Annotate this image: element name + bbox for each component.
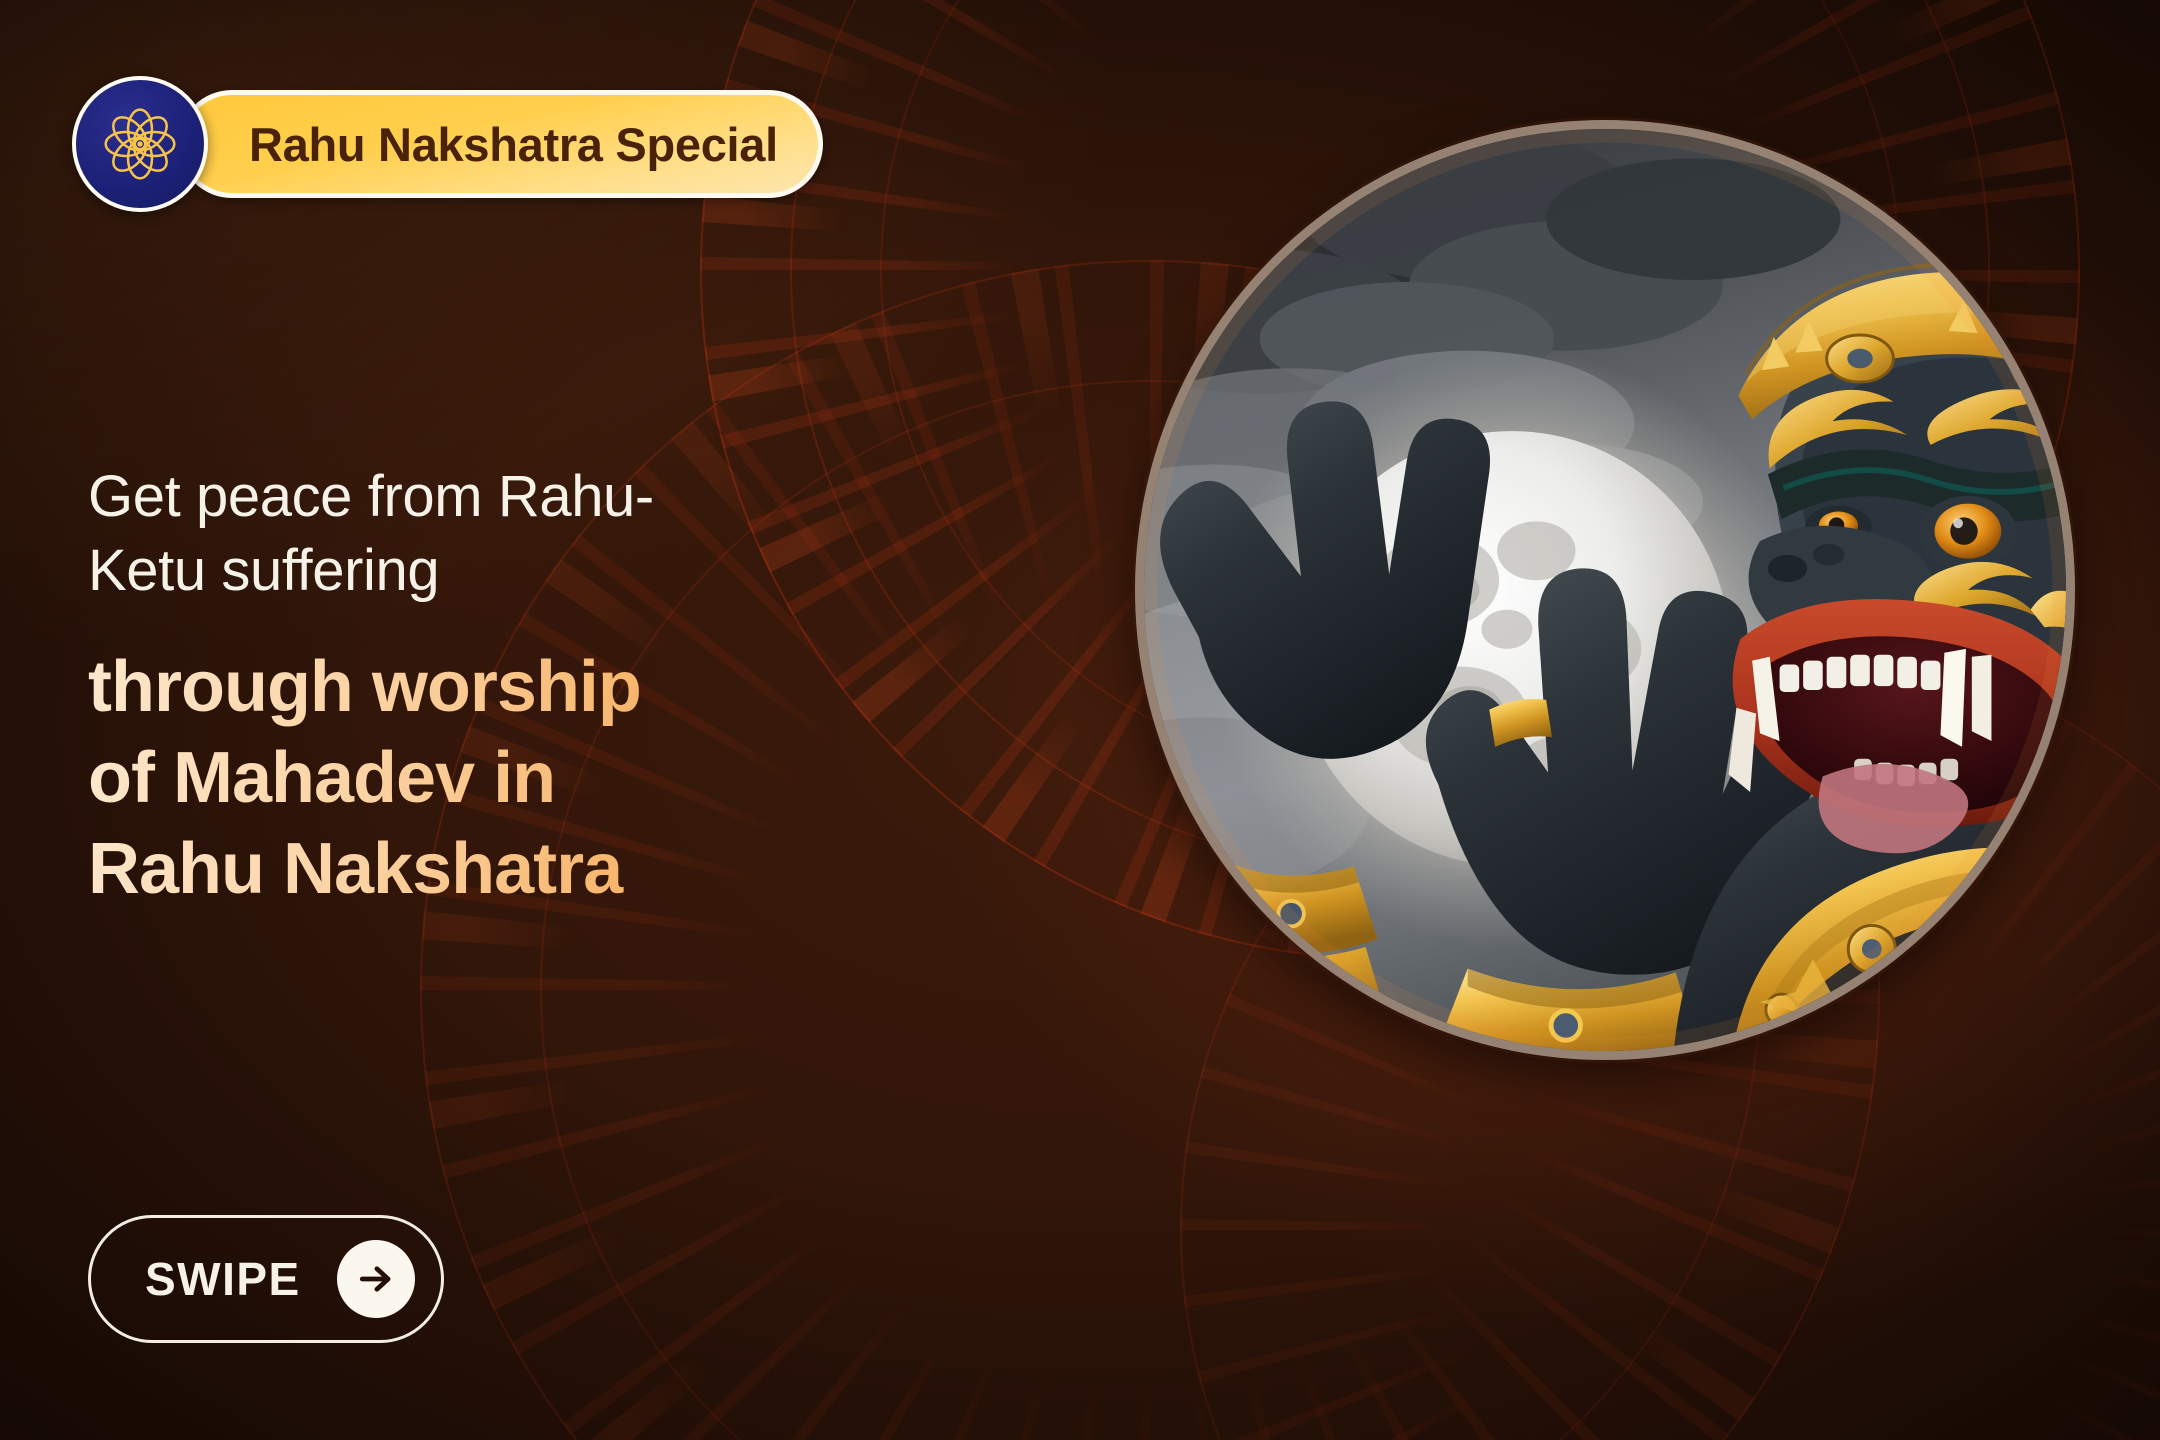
lotus-mandala-icon <box>72 76 208 212</box>
headline-accent-line-2: of Mahadev in <box>88 738 555 818</box>
swipe-button[interactable]: SWIPE <box>88 1215 444 1343</box>
headline-light-line-1: Get peace from Rahu- <box>88 464 654 529</box>
headline-accent-line-1: through worship <box>88 647 641 727</box>
badge-label: Rahu Nakshatra Special <box>249 117 778 172</box>
hero-image <box>1135 120 2075 1060</box>
poster-canvas: Rahu Nakshatra Special Get peace from Ra… <box>0 0 2160 1440</box>
swipe-label: SWIPE <box>145 1252 301 1306</box>
headline-accent-line-3: Rahu Nakshatra <box>88 829 622 909</box>
badge-pill[interactable]: Rahu Nakshatra Special <box>178 90 823 198</box>
headline-accent: through worship of Mahadev in Rahu Naksh… <box>88 642 908 914</box>
headline-light: Get peace from Rahu- Ketu suffering <box>88 460 848 608</box>
headline-light-line-2: Ketu suffering <box>88 538 439 603</box>
copy-block: Get peace from Rahu- Ketu suffering thro… <box>88 460 988 915</box>
brand-badge[interactable]: Rahu Nakshatra Special <box>72 76 823 212</box>
arrow-right-icon[interactable] <box>337 1240 415 1318</box>
